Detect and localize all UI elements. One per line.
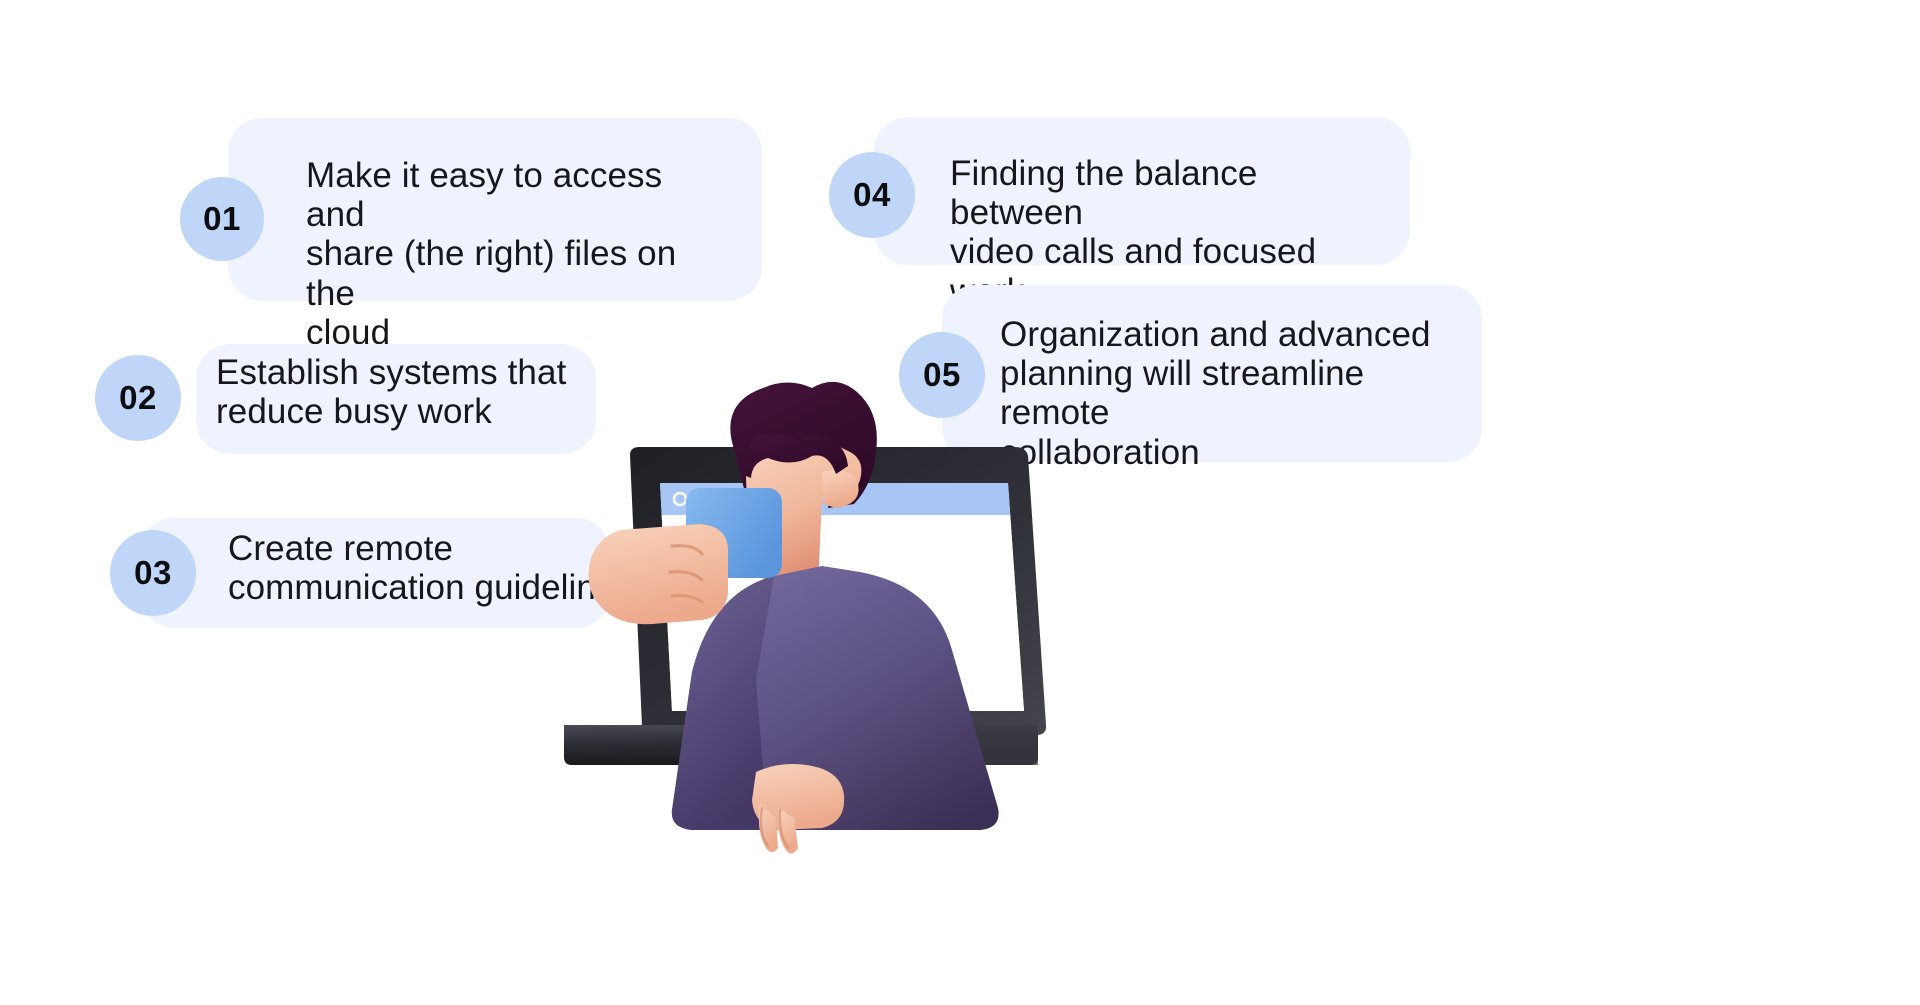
- item-number-02: 02: [119, 379, 157, 417]
- item-badge-02: 02: [95, 355, 181, 441]
- item-number-05: 05: [923, 356, 961, 394]
- item-text-01: Make it easy to access and share (the ri…: [306, 156, 726, 352]
- hand-resting: [752, 764, 844, 854]
- item-badge-04: 04: [829, 152, 915, 238]
- item-text-02: Establish systems that reduce busy work: [216, 353, 616, 431]
- infographic-canvas: 01 Make it easy to access and share (the…: [0, 0, 1920, 1005]
- item-badge-03: 03: [110, 530, 196, 616]
- item-number-03: 03: [134, 554, 172, 592]
- laptop-person-illustration: [560, 380, 1300, 980]
- item-badge-05: 05: [899, 332, 985, 418]
- hand-holding-mug: [589, 524, 729, 624]
- item-number-01: 01: [203, 200, 241, 238]
- item-number-04: 04: [853, 176, 891, 214]
- item-badge-01: 01: [180, 177, 264, 261]
